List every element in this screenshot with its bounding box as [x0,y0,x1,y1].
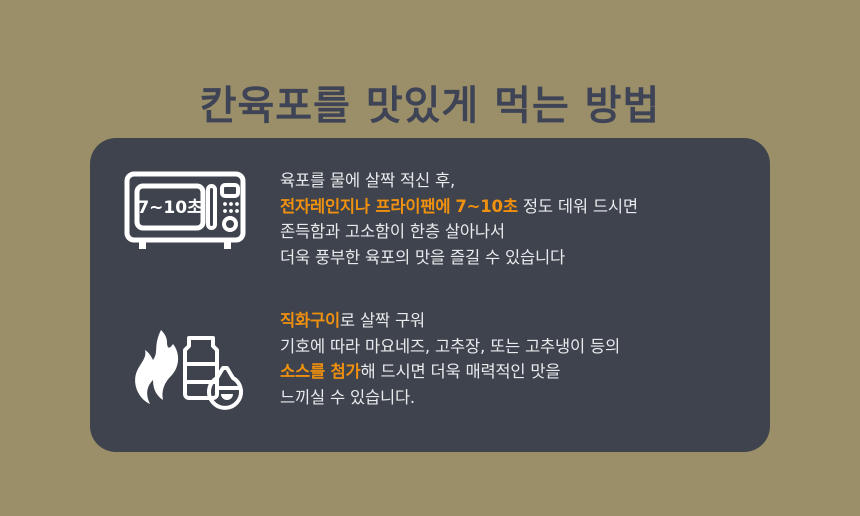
info-card: 7~10초 육포를 물에 살짝 적신 후, 전자레인지나 프라이팬에 7~10초… [90,138,770,452]
tip-line: 소스를 첨가해 드시면 더욱 매력적인 맛을 [280,359,770,385]
microwave-icon-label: 7~10초 [137,198,203,218]
tip-span-accent: 직화구이 [280,311,340,330]
tip-span: 해 드시면 더욱 매력적인 맛을 [360,362,560,381]
tip-line: 존득함과 고소함이 한층 살아나서 [280,219,770,245]
flame-shape [135,330,178,404]
tip-span: 더욱 풍부한 육포의 맛을 즐길 수 있습니다 [280,248,565,267]
tip-span: 육포를 물에 살짝 적신 후, [280,171,455,190]
tip-row-microwave: 7~10초 육포를 물에 살짝 적신 후, 전자레인지나 프라이팬에 7~10초… [90,166,770,270]
tip-span-accent: 전자레인지나 프라이팬에 [280,197,450,216]
tip-line: 육포를 물에 살짝 적신 후, [280,168,770,194]
tip-line: 느끼실 수 있습니다. [280,385,770,411]
tip-text-grill: 직화구이로 살짝 구워 기호에 따라 마요네즈, 고추장, 또는 고추냉이 등의… [280,306,770,410]
flame-sauce-icon [123,324,247,410]
tip-span-accent: 소스를 첨가 [280,362,360,381]
tip-line: 기호에 따라 마요네즈, 고추장, 또는 고추냉이 등의 [280,334,770,360]
tip-text-microwave: 육포를 물에 살짝 적신 후, 전자레인지나 프라이팬에 7~10초 정도 데워… [280,166,770,270]
page-title: 칸육포를 맛있게 먹는 방법 [0,81,860,131]
tip-span-accent: 7~10초 [455,197,517,216]
tip-line: 더욱 풍부한 육포의 맛을 즐길 수 있습니다 [280,245,770,271]
flame-sauce-icon-wrap [90,306,280,410]
tip-span: 로 살짝 구워 [340,311,425,330]
tip-line: 전자레인지나 프라이팬에 7~10초 정도 데워 드시면 [280,194,770,220]
microwave-icon: 7~10초 [123,170,247,252]
tip-span: 정도 데워 드시면 [518,197,638,216]
microwave-icon-wrap: 7~10초 [90,166,280,252]
tip-span: 존득함과 고소함이 한층 살아나서 [280,222,505,241]
tip-line: 직화구이로 살짝 구워 [280,308,770,334]
tip-span: 느끼실 수 있습니다. [280,388,415,407]
tip-row-grill: 직화구이로 살짝 구워 기호에 따라 마요네즈, 고추장, 또는 고추냉이 등의… [90,306,770,410]
tip-span: 기호에 따라 마요네즈, 고추장, 또는 고추냉이 등의 [280,337,620,356]
